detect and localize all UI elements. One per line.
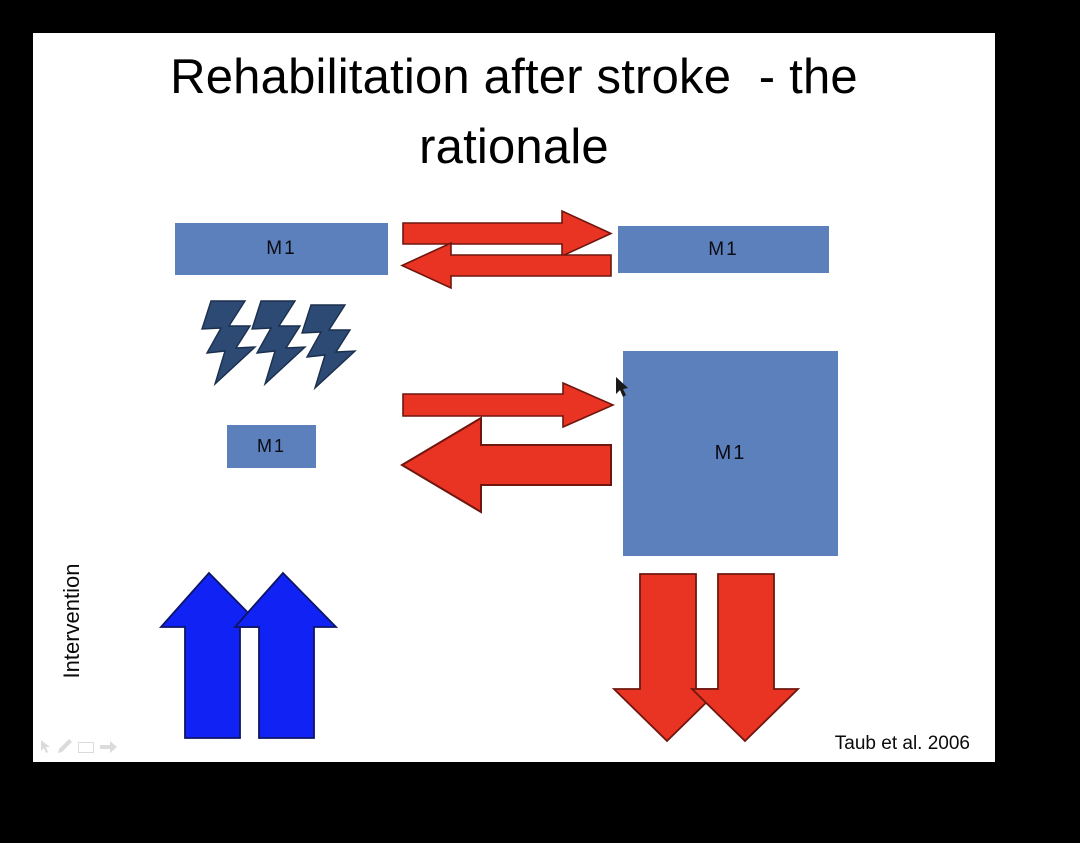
top-left-arrow-icon	[402, 243, 611, 288]
up-arrow-icon	[161, 573, 262, 738]
lightning-bolt-icon	[252, 301, 305, 384]
m1-box-intact-left: M1	[175, 223, 388, 275]
m1-box-label: M1	[257, 436, 286, 457]
page-title: Rehabilitation after stroke - the ration…	[93, 43, 935, 182]
m1-box-intact-right: M1	[618, 226, 829, 273]
presentation-slide: Rehabilitation after stroke - the ration…	[33, 33, 995, 762]
mid-right-arrow-icon	[403, 383, 613, 427]
lightning-bolt-icon	[202, 301, 255, 384]
mid-left-arrow-icon	[402, 418, 611, 512]
m1-box-expanded-large: M1	[623, 351, 838, 556]
slide-viewport: Rehabilitation after stroke - the ration…	[0, 0, 1080, 843]
m1-box-label: M1	[266, 238, 296, 260]
m1-box-label: M1	[715, 442, 747, 465]
presenter-toolbar[interactable]	[41, 739, 117, 753]
pen-icon[interactable]	[58, 739, 72, 753]
pointer-icon[interactable]	[41, 740, 52, 753]
up-arrow-icon	[235, 573, 336, 738]
down-arrow-icon	[692, 574, 798, 741]
m1-box-label: M1	[708, 239, 738, 261]
intervention-axis-label: Intervention	[59, 546, 85, 696]
lightning-bolt-group	[202, 301, 355, 388]
next-slide-icon[interactable]	[100, 741, 117, 753]
slide-icon[interactable]	[78, 742, 94, 753]
citation-text: Taub et al. 2006	[835, 733, 970, 755]
down-arrow-icon	[614, 574, 720, 741]
top-right-arrow-icon	[403, 211, 611, 256]
lightning-bolt-icon	[302, 305, 355, 388]
m1-box-lesioned-small: M1	[227, 425, 316, 468]
